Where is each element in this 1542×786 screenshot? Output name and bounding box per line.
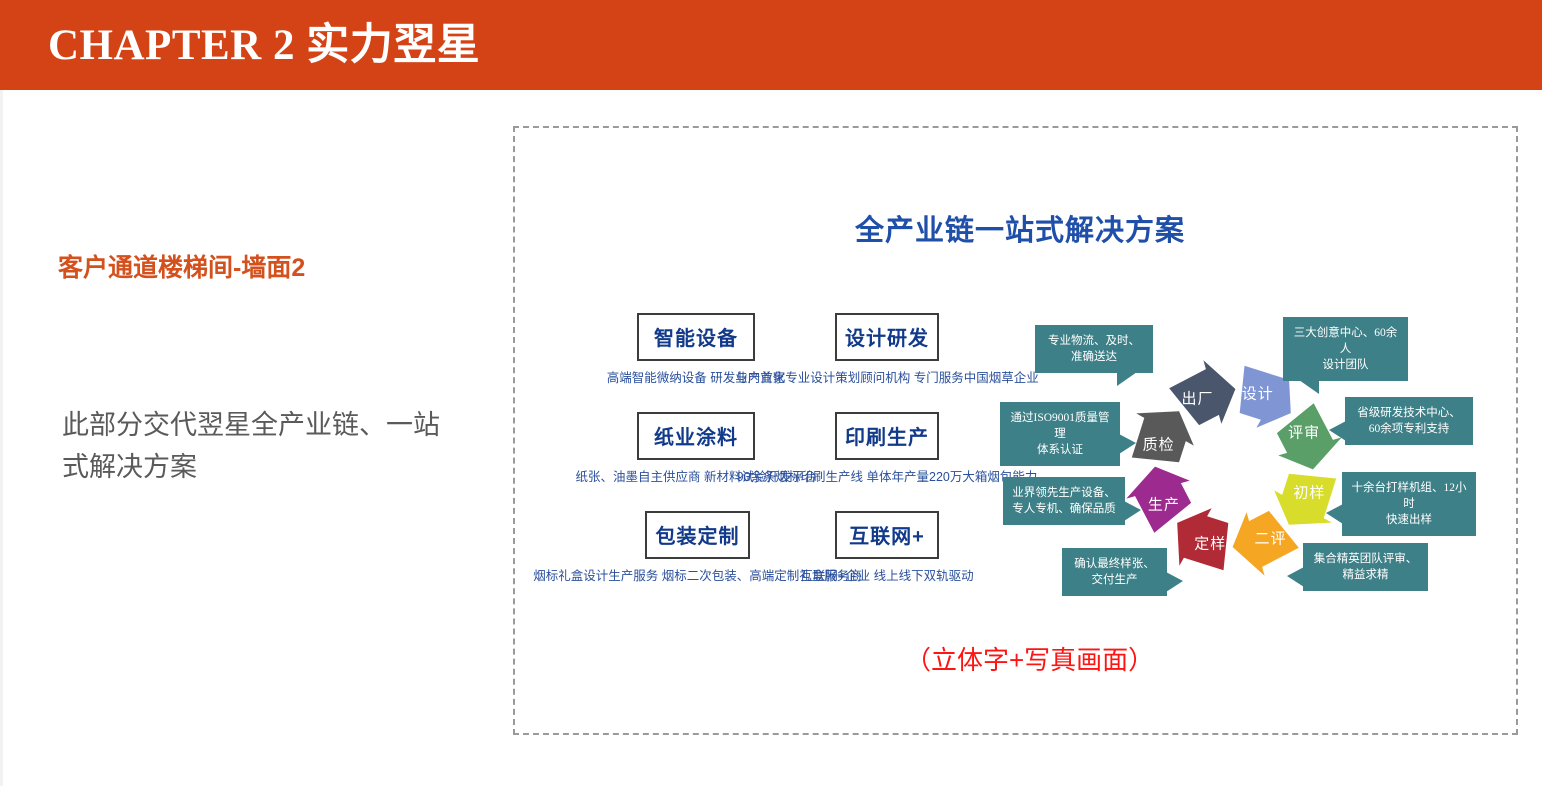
capability-box-label: 设计研发 <box>835 313 939 361</box>
capability-box-label: 互联网+ <box>835 511 939 559</box>
capability-box-label: 包装定制 <box>645 511 750 559</box>
capability-block-packaging[interactable]: 包装定制 烟标礼盒设计生产服务 烟标二次包装、高端定制礼盒服务商 <box>645 511 750 559</box>
capability-box-label: 智能设备 <box>637 313 755 361</box>
slide-left-edge <box>0 90 3 786</box>
capability-box-label: 纸业涂料 <box>637 412 755 460</box>
callout-rd-center: 省级研发技术中心、 60余项专利支持 <box>1345 397 1473 445</box>
capability-block-design-rd[interactable]: 设计研发 业内首家专业设计策划顾问机构 专门服务中国烟草企业 <box>835 313 939 361</box>
capability-block-internet-plus[interactable]: 互联网+ 互联网+企业 线上线下双轨驱动 <box>835 511 939 559</box>
capability-block-paper-coating[interactable]: 纸业涂料 纸张、油墨自主供应商 新材料试验开发平台 <box>637 412 755 460</box>
chapter-title: CHAPTER 2 实力翌星 <box>48 10 480 72</box>
cycle-arrow-6 <box>1132 411 1194 462</box>
capability-description: 互联网+企业 线上线下双轨驱动 <box>800 567 973 586</box>
capability-description: 业内首家专业设计策划顾问机构 专门服务中国烟草企业 <box>735 369 1038 388</box>
callout-iso-certification: 通过ISO9001质量管理 体系认证 <box>1000 402 1120 466</box>
section-heading: 客户通道楼梯间-墙面2 <box>58 248 305 284</box>
section-description: 此部分交代翌星全产业链、一站式解决方案 <box>62 404 452 488</box>
callout-proofing-machines: 十余台打样机组、12小时 快速出样 <box>1342 472 1476 536</box>
production-note: （立体字+写真画面） <box>905 640 1154 677</box>
callout-production-equipment: 业界领先生产设备、 专人专机、确保品质 <box>1003 477 1125 525</box>
capability-description: 90余条烟标印刷生产线 单体年产量220万大箱烟包能力 <box>737 468 1038 487</box>
capability-block-printing[interactable]: 印刷生产 90余条烟标印刷生产线 单体年产量220万大箱烟包能力 <box>835 412 939 460</box>
callout-logistics: 专业物流、及时、 准确送达 <box>1035 325 1153 373</box>
callout-elite-review: 集合精英团队评审、 精益求精 <box>1303 543 1428 591</box>
diagram-title: 全产业链一站式解决方案 <box>855 207 1185 249</box>
callout-creative-centers: 三大创意中心、60余人 设计团队 <box>1283 317 1408 381</box>
capability-block-smart-equipment[interactable]: 智能设备 高端智能微纳设备 研发与产业化 <box>637 313 755 361</box>
capability-box-label: 印刷生产 <box>835 412 939 460</box>
cycle-arrow-4 <box>1177 508 1228 570</box>
callout-final-proof: 确认最终样张、 交付生产 <box>1062 548 1167 596</box>
